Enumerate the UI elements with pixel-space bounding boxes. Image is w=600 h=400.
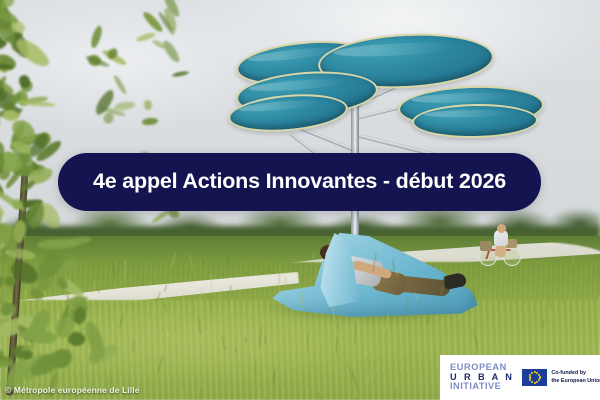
eu-star-icon	[529, 374, 531, 376]
grass-blade	[307, 334, 309, 352]
eu-cofunding-line-1: Co-funded by	[551, 370, 600, 377]
bicycle-pannier	[480, 241, 492, 251]
cyclist-head	[497, 224, 506, 233]
cyclist-legs	[494, 244, 507, 258]
eu-star-icon	[538, 379, 540, 381]
headline-text: 4e appel Actions Innovantes - début 2026	[93, 171, 506, 193]
eu-cofunding-logo: Co-funded by the European Union	[522, 369, 600, 386]
photo-credit: © Métropole européenne de Lille	[5, 385, 140, 395]
eu-flag-icon	[522, 369, 547, 386]
person-shoe	[443, 272, 467, 290]
cyclist	[478, 228, 526, 270]
eu-star-icon	[536, 381, 538, 383]
headline-banner: 4e appel Actions Innovantes - début 2026	[58, 153, 541, 211]
grass-blade	[508, 330, 510, 345]
grass-blade	[279, 265, 281, 285]
eui-logo-line-3: INITIATIVE	[450, 382, 514, 392]
eu-star-icon	[531, 372, 533, 374]
eu-star-icon	[529, 376, 531, 378]
eu-star-icon	[534, 382, 536, 384]
logo-panel: EUROPEAN U R B A N INITIATIVE Co-funded …	[440, 355, 600, 400]
european-urban-initiative-logo: EUROPEAN U R B A N INITIATIVE	[450, 363, 514, 393]
eu-cofunding-line-2: the European Union	[551, 378, 600, 385]
promotional-poster: 4e appel Actions Innovantes - début 2026…	[0, 0, 600, 400]
eu-star-icon	[531, 381, 533, 383]
eu-cofunding-text: Co-funded by the European Union	[551, 370, 600, 384]
